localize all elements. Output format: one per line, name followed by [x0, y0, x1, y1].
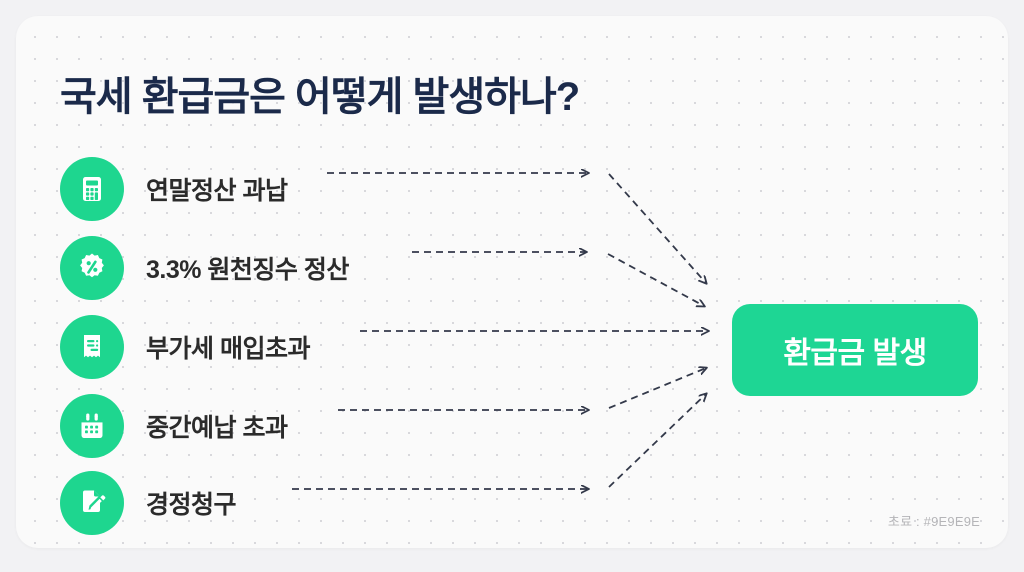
calculator-icon: [60, 157, 124, 221]
cause-row-5[interactable]: 경정청구: [60, 471, 236, 535]
page-title: 국세 환급금은 어떻게 발생하나?: [60, 64, 579, 122]
arrow-row-4: [338, 368, 706, 410]
percent-badge-icon: [60, 236, 124, 300]
arrow-row-1: [327, 173, 706, 283]
infographic-stage: 국세 환급금은 어떻게 발생하나?: [0, 0, 1024, 572]
cause-label-4: 중간예납 초과: [146, 408, 287, 444]
document-edit-icon: [60, 471, 124, 535]
cause-label-3: 부가세 매입초과: [146, 329, 310, 365]
result-label: 환급금 발생: [783, 328, 926, 372]
cause-row-4[interactable]: 중간예납 초과: [60, 394, 287, 458]
cause-row-2[interactable]: 3.3% 원천징수 정산: [60, 236, 349, 300]
cause-label-1: 연말정산 과납: [146, 171, 287, 207]
source-footnote: 초료 : #9E9E9E: [888, 511, 980, 530]
cause-row-1[interactable]: 연말정산 과납: [60, 157, 287, 221]
content-card: 국세 환급금은 어떻게 발생하나?: [16, 16, 1008, 548]
calendar-icon: [60, 394, 124, 458]
arrow-row-2: [412, 252, 704, 306]
arrow-row-5: [292, 394, 706, 489]
cause-row-3[interactable]: 부가세 매입초과: [60, 315, 310, 379]
cause-label-2: 3.3% 원천징수 정산: [146, 250, 349, 286]
result-box[interactable]: 환급금 발생: [732, 304, 978, 396]
receipt-icon: [60, 315, 124, 379]
cause-label-5: 경정청구: [146, 485, 236, 521]
